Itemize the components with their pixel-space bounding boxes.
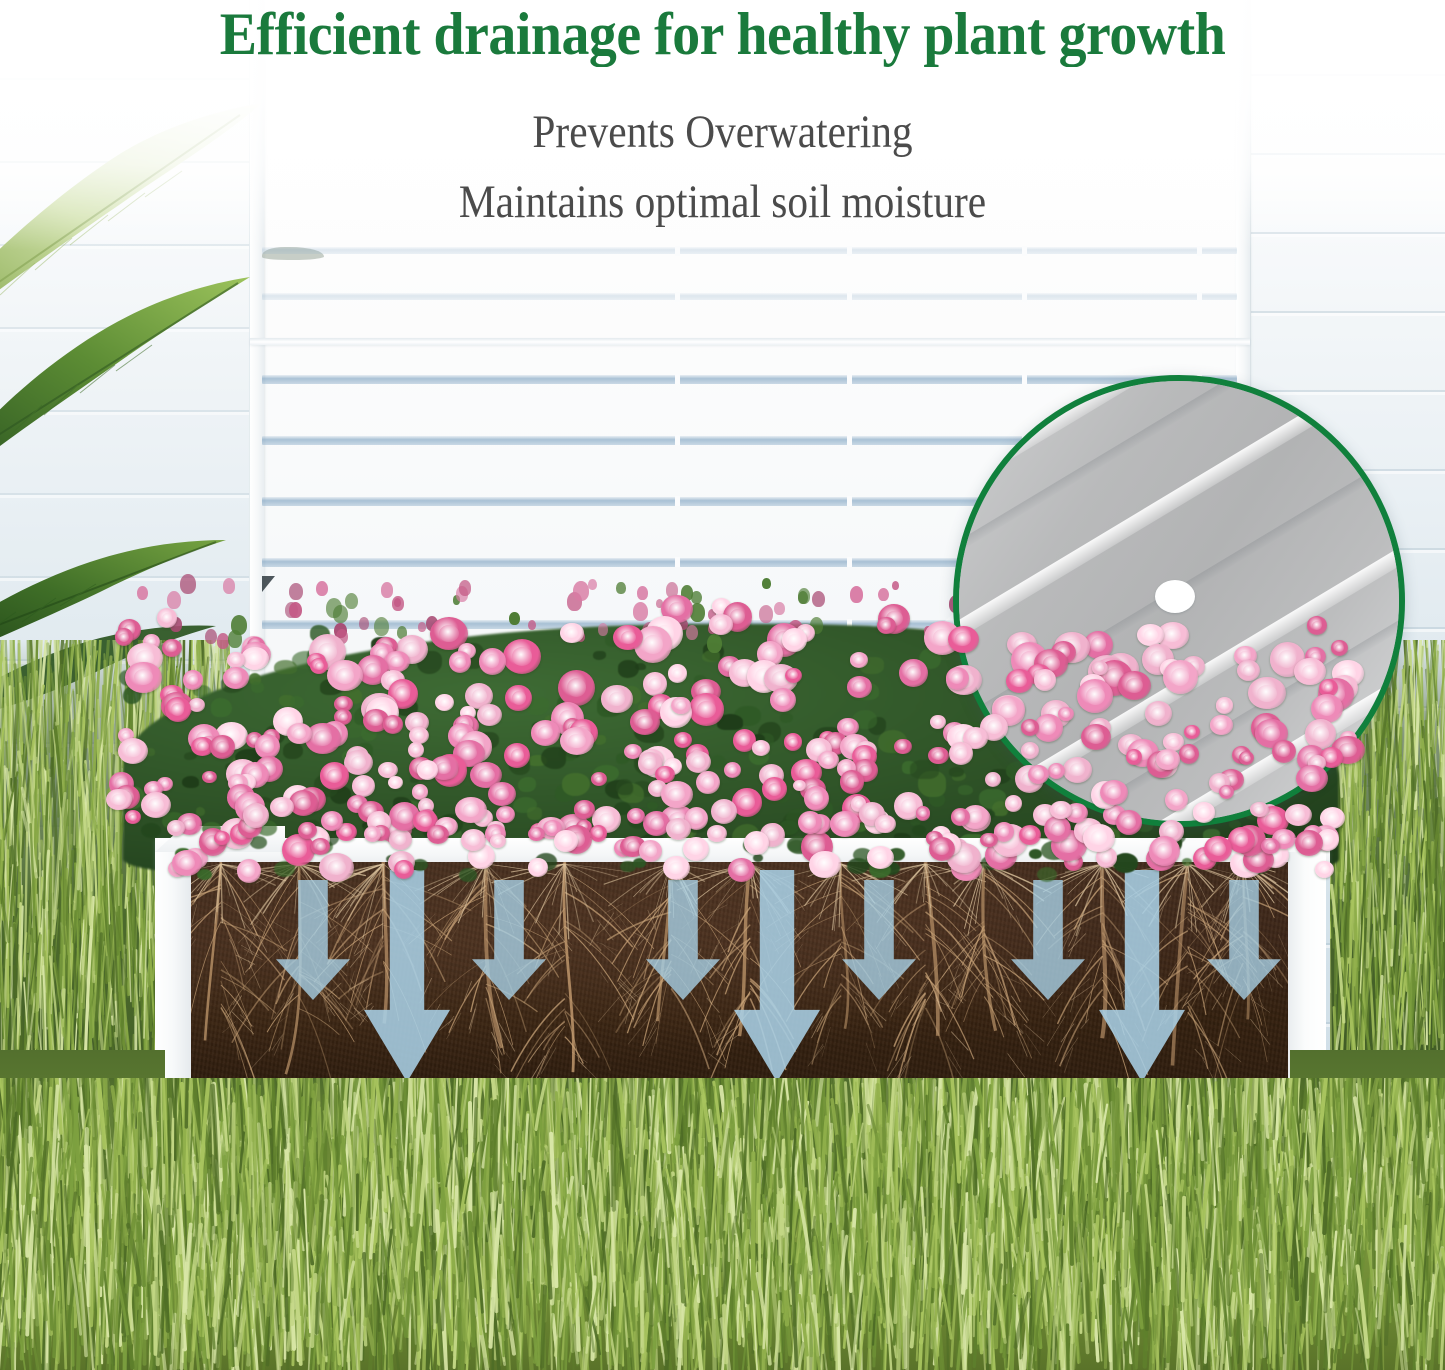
rose-center [171, 824, 181, 833]
rose-bloom [809, 851, 840, 878]
rose-center [1156, 843, 1172, 858]
rose-center [1151, 707, 1165, 720]
rose-center [803, 816, 816, 828]
rose-center [906, 666, 921, 681]
rose-center [628, 747, 638, 755]
rose-bloom [877, 617, 896, 634]
rose-center [1144, 629, 1158, 641]
fence-panel-seam [250, 338, 1250, 345]
rose-bud [616, 582, 625, 594]
rose-center [1198, 807, 1210, 817]
rose-bloom [1034, 669, 1057, 691]
rose-center [197, 741, 209, 751]
rose-bud [878, 588, 889, 602]
rose-bloom [477, 704, 501, 726]
rose-bloom [916, 806, 931, 820]
rose-center [1056, 805, 1067, 815]
rose-bloom [752, 740, 771, 755]
fence-slat-joint [675, 246, 680, 256]
fence-slat-joint [847, 246, 852, 256]
rose-bloom [1295, 830, 1323, 856]
rose-center [881, 621, 891, 630]
rose-center [1096, 664, 1104, 672]
rose-center [919, 810, 927, 817]
rose-bloom [427, 825, 449, 844]
fence-slat-joint [675, 292, 680, 302]
rose-bud [374, 617, 389, 636]
rose-center [1235, 833, 1249, 846]
rose-bud [633, 602, 648, 621]
rose-center [873, 852, 887, 864]
rose-bloom [383, 715, 404, 734]
rose-center [796, 782, 803, 788]
subtitle-line-1: Prevents Overwatering [87, 106, 1359, 158]
rose-center [846, 776, 859, 788]
rose-bloom [671, 697, 690, 714]
rose-leaf [1029, 849, 1042, 859]
rose-center [1026, 746, 1035, 755]
rose-center [987, 720, 1002, 734]
rose-center [399, 864, 409, 874]
rose-bloom [165, 697, 190, 722]
rose-center [1171, 794, 1183, 806]
rose-bloom [666, 818, 691, 840]
rose-center [494, 838, 502, 845]
fence-slat-joint [847, 292, 852, 302]
rose-center [293, 728, 306, 739]
rose-bud [359, 617, 369, 629]
rose-bloom [115, 628, 133, 646]
rose-bloom [298, 822, 317, 839]
rose-center [148, 798, 164, 812]
rose-bud [686, 625, 698, 641]
rose-center [512, 647, 532, 665]
rose-center [660, 770, 670, 779]
rose-bud [205, 629, 217, 644]
rose-bud [509, 612, 519, 625]
rose-center [560, 835, 572, 847]
rose-bloom [1116, 810, 1142, 835]
rose-bloom [574, 800, 596, 818]
rose-center [968, 811, 982, 824]
rose-center [1215, 720, 1227, 730]
rose-bloom [1081, 724, 1111, 750]
rose-center [643, 758, 656, 770]
rose-bloom [214, 831, 231, 845]
rose-center [1211, 842, 1226, 856]
rose-center [314, 730, 332, 746]
rose-leaf [290, 696, 304, 708]
rose-bloom [560, 623, 583, 642]
rose-bloom [949, 742, 973, 764]
rose-bloom [1165, 789, 1188, 811]
rose-center [249, 809, 263, 822]
rose-bloom [689, 693, 724, 725]
subtitle-line-2: Maintains optimal soil moisture [87, 176, 1359, 228]
rose-center [969, 732, 982, 743]
rose-leaf [912, 825, 926, 836]
rose-bloom [847, 676, 871, 697]
rose-center [1278, 834, 1290, 845]
rose-center [1171, 668, 1189, 686]
rose-center [351, 756, 366, 769]
rose-bloom [125, 662, 162, 693]
rose-bloom [613, 625, 643, 651]
rose-bloom [1272, 740, 1296, 763]
rose-center [672, 823, 685, 835]
rose-bud [289, 602, 302, 618]
rose-bloom [528, 858, 547, 877]
rose-center [495, 788, 510, 801]
rose-center [631, 812, 641, 820]
rose-center [532, 830, 541, 838]
rose-center [955, 632, 971, 646]
rose-leaf [141, 823, 161, 838]
rose-center [511, 749, 525, 762]
drainage-hole [1155, 580, 1195, 613]
rose-bloom [389, 829, 412, 850]
rose-center [1278, 650, 1296, 668]
rose-center [440, 698, 450, 707]
rose-bloom [663, 856, 690, 880]
rose-center [290, 842, 307, 859]
rose-bloom [643, 672, 667, 695]
rose-center [1025, 723, 1035, 732]
rose-center [162, 613, 173, 623]
rose-bloom [709, 614, 733, 634]
rose-bloom [183, 670, 204, 690]
rose-center [1291, 809, 1305, 821]
rose-center [1324, 683, 1334, 692]
rose-center [933, 751, 944, 760]
rose-center [229, 672, 242, 684]
rose-bloom [1019, 825, 1041, 845]
rose-center [1254, 806, 1264, 814]
rose-center [823, 756, 834, 765]
product-feature-image: Efficient drainage for healthy plant gro… [0, 0, 1445, 1370]
rose-bloom [141, 792, 171, 818]
rose-center [242, 865, 255, 877]
rose-bud [707, 634, 722, 653]
lawn-foreground [0, 1078, 1445, 1370]
rose-center [702, 776, 714, 788]
rose-bud [528, 620, 536, 630]
rose-center [1122, 816, 1136, 829]
rose-bloom [1006, 669, 1034, 693]
rose-bloom [449, 651, 471, 673]
rose-bud [418, 622, 426, 631]
rose-bud [333, 605, 348, 623]
rose-bud [345, 593, 358, 609]
rose-center [192, 701, 200, 708]
rose-bloom [683, 837, 710, 862]
rose-center [1091, 637, 1106, 652]
rose-center [1312, 621, 1322, 630]
rose-center [126, 744, 142, 757]
rose-bud [573, 581, 589, 601]
rose-leaf [616, 779, 633, 795]
rose-bloom [770, 688, 796, 712]
rose-center [1051, 822, 1065, 836]
rose-center [390, 656, 404, 667]
rose-center [1088, 730, 1104, 744]
rose-center [649, 678, 661, 690]
rose-center [467, 834, 480, 846]
rose-bloom [1137, 624, 1164, 646]
rose-leaf [182, 776, 200, 788]
fence-slat-joint [1197, 292, 1202, 302]
rose-bloom [1149, 836, 1180, 866]
rose-leaf [197, 869, 211, 880]
rose-bloom [1210, 715, 1233, 734]
rose-bud [381, 582, 394, 598]
rose-bud [459, 580, 471, 595]
rose-bloom [479, 648, 506, 675]
rose-center [579, 805, 590, 814]
rose-center [880, 820, 891, 830]
rose-center [412, 746, 420, 754]
rose-bloom [1005, 795, 1022, 812]
rose-bloom [1216, 697, 1234, 714]
rose-center [951, 672, 963, 684]
fence-slat [262, 293, 1237, 300]
rose-center [643, 635, 663, 655]
rose-center [645, 845, 657, 856]
rose-center [383, 766, 393, 774]
rose-center [712, 829, 723, 838]
rose-center [609, 692, 625, 706]
rose-center [650, 817, 664, 830]
rose-center [302, 826, 312, 835]
rose-center [739, 795, 755, 810]
rose-bloom [1184, 725, 1200, 739]
rose-bloom [394, 860, 414, 879]
rose-center [437, 762, 451, 775]
rose-center [296, 797, 311, 810]
rose-center [935, 843, 949, 856]
rose-center [171, 703, 184, 716]
rose-bud [812, 591, 825, 607]
rose-bloom [951, 808, 970, 826]
rose-leaf [211, 698, 232, 717]
fence-slat [262, 247, 1237, 254]
rose-center [216, 741, 229, 753]
rose-bloom [270, 797, 294, 817]
rose-center [339, 713, 348, 721]
rose-center [673, 669, 683, 679]
rose-bloom [1118, 671, 1151, 700]
rose-center [1130, 753, 1139, 761]
rose-bud [892, 581, 899, 590]
rose-center [669, 602, 686, 617]
rose-center [1164, 628, 1181, 642]
rose-center [1266, 842, 1276, 851]
rose-bloom [948, 626, 979, 653]
rose-bloom [417, 760, 438, 780]
rose-center [338, 699, 348, 707]
rose-bud [637, 586, 648, 600]
rose-leaf [274, 660, 297, 674]
rose-bloom [503, 639, 542, 674]
rose-bud [588, 579, 597, 590]
rose-bloom [461, 829, 486, 851]
rose-bloom [560, 727, 594, 755]
rose-bud [223, 578, 236, 594]
fence-slat-joint [675, 496, 680, 506]
rose-center [955, 850, 973, 865]
rose-bloom [875, 815, 896, 833]
rose-leaf [753, 854, 763, 862]
rose-bloom [118, 738, 148, 764]
rose-center [394, 834, 406, 845]
rose-center [1322, 834, 1333, 845]
rose-center [854, 656, 864, 664]
rose-center [416, 788, 425, 796]
page-title: Efficient drainage for healthy plant gro… [51, 2, 1395, 66]
rose-center [206, 774, 214, 780]
banana-leaf-middle [0, 255, 260, 470]
rose-center [119, 633, 129, 642]
rose-center [231, 656, 240, 664]
rose-center [463, 803, 479, 817]
rose-center [676, 701, 686, 710]
rose-bloom [531, 720, 561, 745]
rose-center [810, 792, 823, 805]
rose-center [1041, 720, 1056, 735]
rose-bud [798, 591, 808, 604]
rose-center [1184, 749, 1194, 759]
rose-bud [762, 578, 771, 589]
rose-bloom [1058, 707, 1075, 721]
rose-leaf [1182, 858, 1192, 866]
rose-bloom [830, 811, 859, 836]
rose-bud [289, 583, 303, 600]
fence-slat-joint [847, 496, 852, 506]
rose-bloom [408, 742, 424, 758]
rose-center [218, 834, 227, 841]
rose-leaf [541, 747, 566, 769]
rose-center [1168, 738, 1179, 747]
rose-leaf [618, 660, 639, 677]
rose-center [1265, 813, 1282, 828]
rose-center [483, 709, 496, 720]
rose-leaf [251, 682, 264, 693]
rose-center [843, 722, 854, 732]
rose-center [1024, 829, 1036, 840]
rose-center [776, 694, 790, 706]
rose-bud [598, 623, 608, 636]
rose-center [692, 756, 705, 767]
rose-center [388, 719, 399, 729]
rose-bud [167, 591, 181, 609]
rose-bloom [189, 698, 205, 712]
rose-bloom [894, 739, 911, 755]
rose-center [595, 776, 604, 783]
rose-center [391, 779, 399, 786]
rose-center [566, 628, 578, 638]
rose-center [1107, 786, 1122, 799]
rose-bloom [1250, 802, 1269, 818]
rose-bloom [241, 647, 269, 671]
rose-bloom [1083, 824, 1114, 852]
rose-center [1071, 808, 1083, 818]
rose-bloom [1048, 763, 1065, 779]
rose-center [547, 824, 557, 832]
rose-center [955, 748, 967, 760]
rose-center [129, 814, 137, 821]
rose-bud [231, 615, 247, 635]
rose-center [1335, 644, 1344, 652]
rose-center [715, 619, 728, 630]
rose-center [594, 829, 603, 837]
rose-center [501, 810, 510, 819]
rose-center [1222, 788, 1230, 796]
rose-center [853, 681, 866, 692]
rose-center [689, 842, 703, 855]
rose-center [756, 744, 766, 752]
rose-center [533, 863, 543, 873]
rose-center [750, 837, 763, 850]
fence-slat-joint [675, 435, 680, 445]
rose-center [1162, 754, 1175, 765]
rose-bloom [601, 685, 632, 712]
rose-center [697, 701, 715, 718]
rose-center [1062, 710, 1071, 717]
rose-center [621, 631, 636, 644]
rose-center [247, 652, 262, 664]
rose-center [1188, 728, 1196, 736]
rose-center [985, 836, 994, 844]
rose-center [1033, 769, 1044, 779]
rose-bloom [311, 838, 331, 854]
rose-center [1319, 701, 1336, 716]
rose-leaf [459, 868, 477, 881]
rose-bloom [630, 709, 660, 735]
rose-bloom [1145, 701, 1172, 726]
rose-bloom [1228, 827, 1254, 853]
rose-bloom [899, 659, 928, 688]
rose-bloom [1307, 616, 1327, 634]
rose-leaf [620, 861, 635, 873]
rose-center [955, 812, 965, 821]
rose-center [738, 734, 750, 746]
rose-bloom [639, 840, 662, 862]
rose-center [1243, 665, 1255, 676]
rose-bloom [728, 858, 756, 882]
rose-bud [691, 591, 702, 604]
rose-center [788, 634, 801, 647]
rose-center [328, 860, 346, 875]
rose-center [1326, 812, 1339, 823]
rose-center [768, 783, 781, 796]
rose-bloom [696, 771, 720, 795]
rose-center [1302, 665, 1318, 679]
rose-bloom [1126, 749, 1142, 765]
rose-leaf [1037, 867, 1058, 882]
rose-center [341, 827, 352, 837]
fence-slat-joint [675, 374, 680, 384]
rose-center [799, 766, 815, 780]
rose-center [999, 827, 1010, 837]
rose-center [668, 788, 685, 802]
rose-center [1320, 865, 1330, 874]
rose-center [1101, 852, 1112, 863]
rose-center [763, 647, 776, 660]
rose-center [567, 678, 586, 697]
rose-center [717, 805, 730, 818]
rose-bloom [237, 859, 261, 882]
rose-bloom [223, 667, 249, 690]
